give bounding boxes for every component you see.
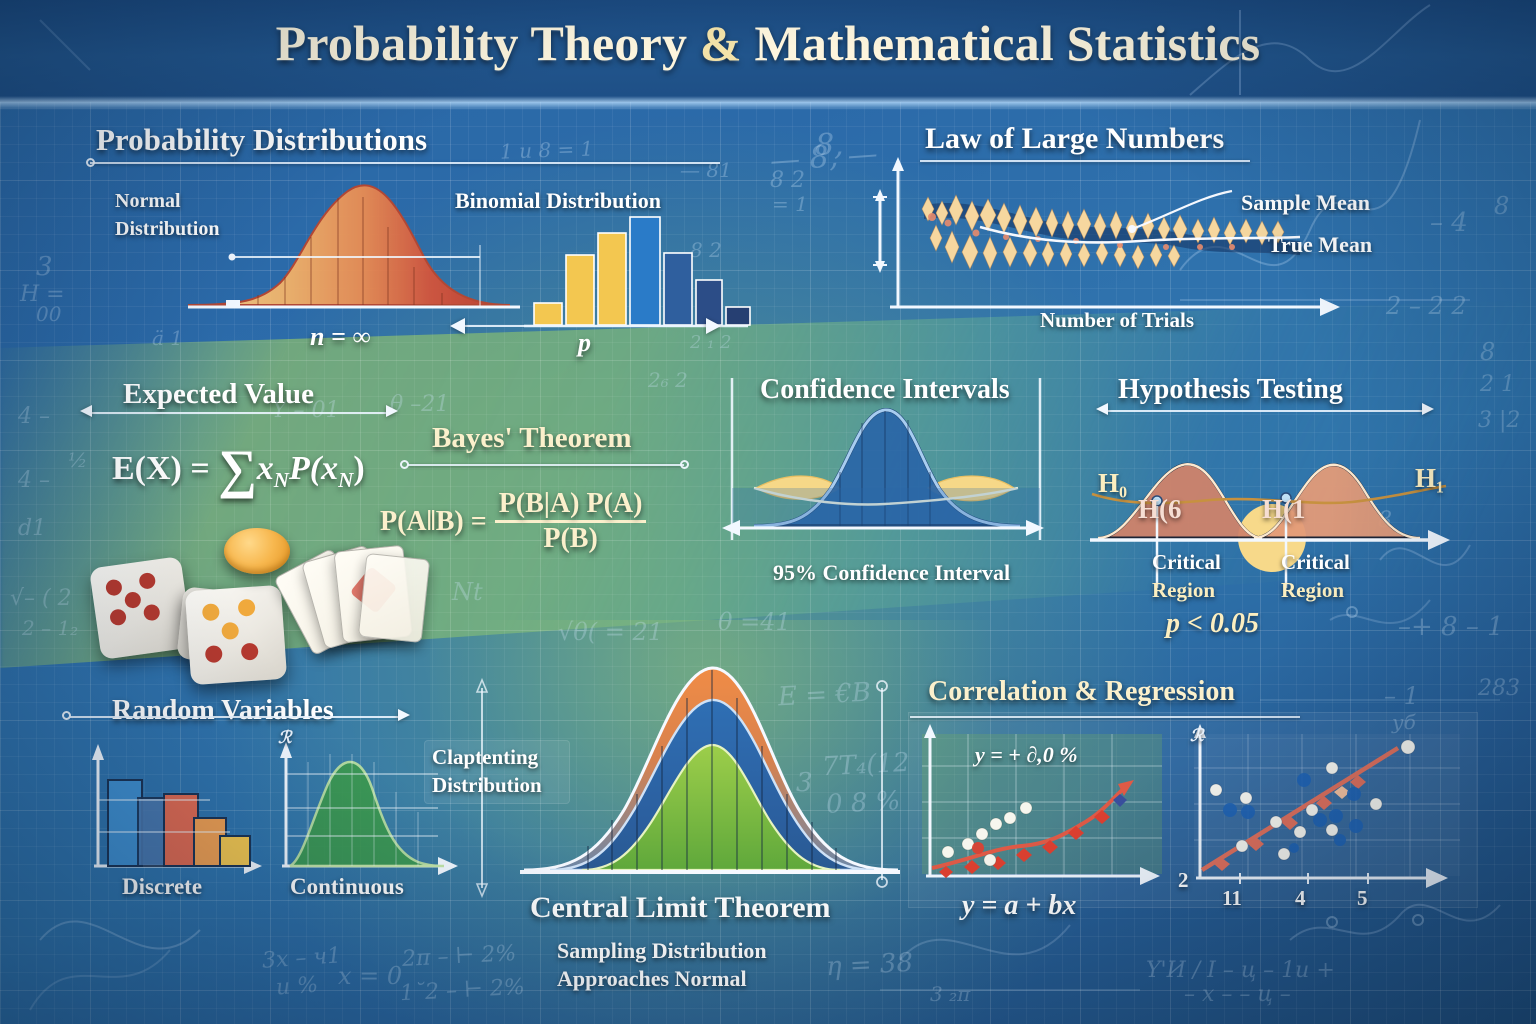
bayes-formula-lhs: P(A‖B) = — [380, 506, 487, 538]
ev-formula-sigma: ∑ — [218, 439, 257, 499]
ev-formula-lhs: E(X) = — [112, 450, 218, 487]
probability-distributions-underline — [90, 162, 720, 164]
correlation-regression-underline — [910, 716, 1300, 718]
hypothesis-h0-label: H₀ — [1098, 468, 1127, 499]
normal-distribution-label-line1: Normal — [115, 190, 181, 213]
continuous-label: Continuous — [290, 874, 404, 900]
section-heading-correlation-regression: Correlation & Regression — [928, 676, 1235, 708]
hypothesis-h1-label: H₁ — [1415, 463, 1444, 494]
section-heading-random-variables: Random Variables — [112, 695, 334, 727]
bayes-formula-numerator: P(B|A) P(A) — [495, 488, 647, 520]
regression-chart-right — [1180, 720, 1480, 910]
regression-left-formula: y = a + bx — [962, 890, 1076, 922]
regression-right-x-tick-2: 4 — [1295, 886, 1306, 911]
expected-value-formula: E(X) = ∑xNP(xN) — [112, 438, 365, 500]
lln-x-axis-label: Number of Trials — [1040, 308, 1194, 333]
hypothesis-peak-right-label: H(1 — [1262, 494, 1306, 525]
page-title-ampersand: & — [700, 15, 742, 71]
regression-left-annotation: y = + ∂,0 % — [975, 742, 1078, 768]
continuous-y-axis-tick: ℛ — [278, 728, 292, 748]
ev-formula-x1: x — [257, 450, 274, 487]
true-mean-label: True Mean — [1268, 232, 1372, 258]
coin-icon — [224, 528, 290, 574]
ev-formula-close: ) — [353, 450, 364, 487]
bayes-formula-denominator: P(B) — [495, 520, 647, 555]
ev-formula-sub2: N — [338, 468, 353, 492]
random-variables-rule — [70, 716, 400, 718]
normal-distribution-axis-label: n = ∞ — [310, 322, 371, 352]
regression-right-y-tick: ℛ — [1190, 726, 1204, 746]
section-heading-central-limit-theorem: Central Limit Theorem — [530, 891, 831, 925]
hypothesis-p-value: p < 0.05 — [1166, 608, 1259, 640]
hypothesis-rule-arrow-right — [1422, 403, 1434, 415]
ev-formula-sub1: N — [274, 468, 289, 492]
section-heading-law-of-large-numbers: Law of Large Numbers — [925, 122, 1224, 156]
hypothesis-peak-left-label: H(6 — [1138, 494, 1182, 525]
binomial-axis-arrow-right — [706, 318, 721, 334]
clt-sub-line1: Sampling Distribution — [557, 938, 767, 964]
hypothesis-testing-rule — [1104, 410, 1424, 412]
binomial-axis-line — [458, 325, 708, 327]
critical-region-right-line2: Region — [1281, 578, 1344, 603]
section-heading-probability-distributions: Probability Distributions — [96, 122, 427, 158]
page-title-part2: Mathematical Statistics — [742, 15, 1261, 71]
bayes-rule-dot-left — [400, 460, 409, 469]
regression-right-x-tick-1: 11 — [1222, 886, 1242, 911]
regression-right-origin-tick: 2 — [1178, 868, 1189, 893]
poster-header: Probability Theory & Mathematical Statis… — [0, 0, 1536, 102]
binomial-distribution-chart — [520, 195, 760, 335]
bayes-theorem-rule — [408, 464, 684, 466]
section-heading-bayes-theorem: Bayes' Theorem — [432, 422, 632, 455]
confidence-interval-caption: 95% Confidence Interval — [773, 560, 1010, 586]
random-variables-arrow — [398, 709, 410, 721]
critical-region-left-line2: Region — [1152, 578, 1215, 603]
expected-value-rule — [88, 412, 388, 414]
regression-right-x-tick-3: 5 — [1357, 886, 1368, 911]
binomial-axis-label: p — [578, 328, 591, 358]
binomial-axis-arrow-left — [450, 318, 465, 334]
clt-sub-line2: Approaches Normal — [557, 966, 747, 992]
ev-formula-px: P(x — [289, 450, 338, 487]
die-right — [185, 585, 287, 685]
discrete-label: Discrete — [122, 874, 202, 900]
probability-distributions-rule-dot — [86, 158, 95, 167]
expected-value-arrow-left — [80, 405, 92, 417]
expected-value-arrow-right — [386, 405, 398, 417]
bayes-theorem-formula: P(A‖B) = P(B|A) P(A) P(B) — [380, 488, 646, 555]
bayes-formula-fraction: P(B|A) P(A) P(B) — [495, 488, 647, 555]
central-limit-theorem-chart — [500, 650, 920, 900]
section-heading-hypothesis-testing: Hypothesis Testing — [1118, 374, 1343, 406]
hypothesis-rule-arrow-left — [1096, 403, 1108, 415]
page-title: Probability Theory & Mathematical Statis… — [0, 14, 1536, 72]
critical-region-right-line1: Critical — [1281, 550, 1350, 575]
section-heading-expected-value: Expected Value — [123, 378, 314, 411]
bayes-rule-dot-right — [680, 460, 689, 469]
confidence-interval-chart — [722, 368, 1072, 568]
infographic-poster: √(-Y1— 8, —8 2= 18,1 и 8 = 1— 818 22 ₁ 2… — [0, 0, 1536, 1024]
page-title-part1: Probability Theory — [276, 15, 700, 71]
header-divider — [0, 96, 1536, 110]
random-variables-rule-dot — [62, 711, 71, 720]
critical-region-left-line1: Critical — [1152, 550, 1221, 575]
playing-card-4 — [358, 553, 430, 643]
sample-mean-label: Sample Mean — [1241, 190, 1370, 216]
